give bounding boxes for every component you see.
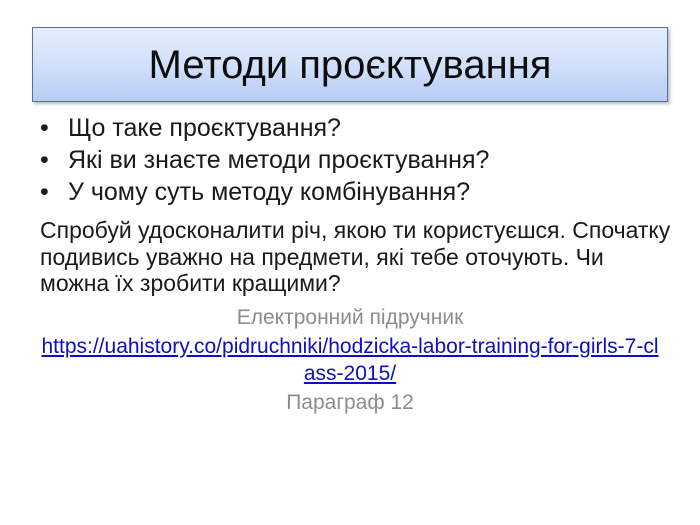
textbook-link-container: https://uahistory.co/pidruchniki/hodzick…: [0, 333, 700, 387]
list-item: • У чому суть методу комбінування?: [0, 176, 700, 208]
textbook-link[interactable]: https://uahistory.co/pidruchniki/hodzick…: [41, 335, 658, 385]
list-item-label: Які ви знаєте методи проєктування?: [68, 146, 489, 174]
bullet-dot-icon: •: [40, 112, 49, 144]
source-caption: Електронний підручник: [0, 305, 700, 331]
bullet-dot-icon: •: [40, 144, 49, 176]
paragraph-reference: Параграф 12: [0, 390, 700, 416]
bullet-dot-icon: •: [40, 176, 49, 208]
question-bullet-list: • Що таке проєктування? • Які ви знаєте …: [0, 112, 700, 208]
list-item-label: Що таке проєктування?: [68, 114, 341, 142]
page-title: Методи проєктування: [149, 43, 552, 87]
slide-title-banner: Методи проєктування: [32, 27, 668, 102]
slide-canvas: Методи проєктування • Що таке проєктуван…: [0, 0, 700, 525]
list-item-label: У чому суть методу комбінування?: [68, 178, 470, 206]
task-paragraph: Спробуй удосконалити річ, якою ти корист…: [0, 217, 700, 297]
slide-body: • Що таке проєктування? • Які ви знаєте …: [0, 112, 700, 416]
list-item: • Що таке проєктування?: [0, 112, 700, 144]
list-item: • Які ви знаєте методи проєктування?: [0, 144, 700, 176]
